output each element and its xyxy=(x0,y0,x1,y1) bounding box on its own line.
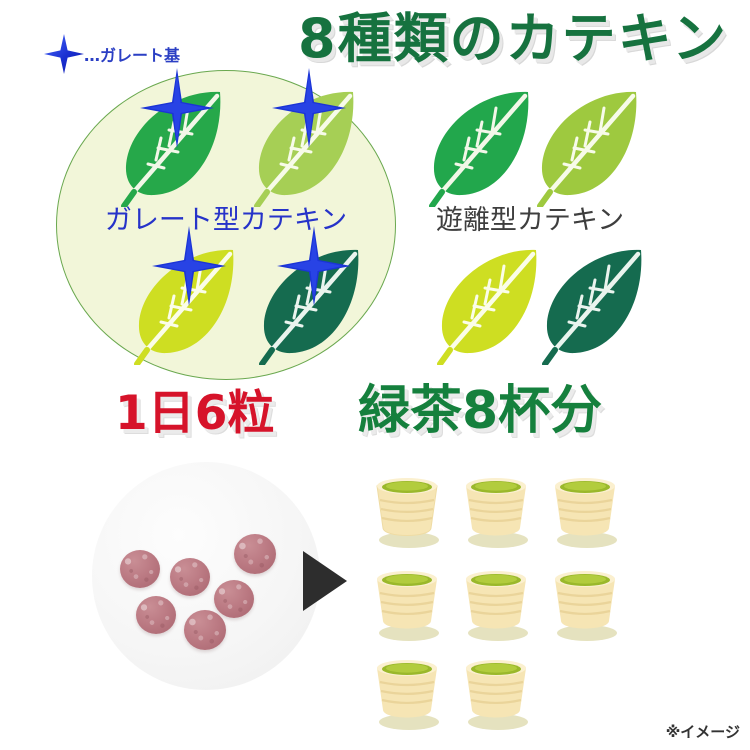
tablet xyxy=(214,580,254,618)
dosage-heading: 1日6粒 xyxy=(115,390,274,437)
galloyl-legend-label: …ガレート基 xyxy=(84,42,180,66)
play-triangle-right-icon xyxy=(303,551,347,611)
tea-cup xyxy=(369,563,445,643)
tablet xyxy=(136,596,176,634)
galloyl-legend: …ガレート基 xyxy=(42,32,180,76)
leaf-free-4 xyxy=(533,240,655,369)
tablet xyxy=(120,550,160,588)
tea-cup xyxy=(458,470,534,550)
infographic-canvas: 8種類のカテキン …ガレート基 xyxy=(0,0,750,750)
leaf-galloyl-4 xyxy=(250,240,372,369)
tea-cup xyxy=(547,563,623,643)
page-title: 8種類のカテキン xyxy=(298,12,728,66)
tea-cup xyxy=(458,652,534,732)
tea-cup xyxy=(547,470,623,550)
tablet xyxy=(184,610,226,650)
leaf-free-3 xyxy=(428,240,550,369)
galloyl-group-label: ガレート型カテキン xyxy=(56,198,396,237)
tablet xyxy=(170,558,210,596)
tablet-plate xyxy=(92,462,320,690)
equivalent-heading: 緑茶8杯分 xyxy=(358,385,602,437)
leaf-free-2 xyxy=(528,82,650,211)
tea-cup xyxy=(369,652,445,732)
leaf-galloyl-2 xyxy=(245,82,367,211)
leaf-galloyl-3 xyxy=(125,240,247,369)
tea-cup xyxy=(369,470,445,550)
four-point-star-icon xyxy=(42,32,86,76)
tablet xyxy=(234,534,276,574)
tea-cup xyxy=(458,563,534,643)
free-group-label: 遊離型カテキン xyxy=(420,198,640,237)
leaf-galloyl-1 xyxy=(112,82,234,211)
footnote: ※イメージ xyxy=(666,721,740,742)
leaf-free-1 xyxy=(420,82,542,211)
